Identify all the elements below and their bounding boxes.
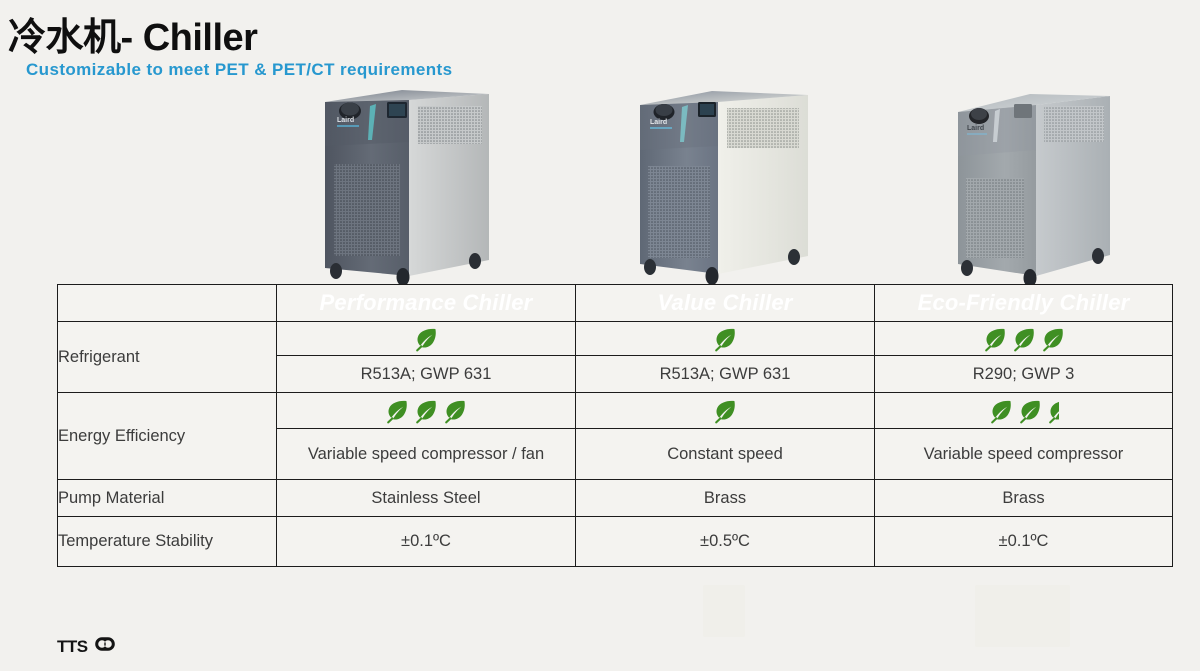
leaf-icon [712, 398, 738, 424]
tts-logo: TTS [57, 636, 120, 657]
header-blank [58, 285, 277, 322]
svg-text:Laird: Laird [967, 125, 984, 132]
cell-pump-eco: Brass [875, 480, 1173, 517]
leaf-rating [875, 322, 1172, 355]
header-value-chiller: Value Chiller [576, 285, 875, 322]
cell-pump-value: Brass [576, 480, 875, 517]
watermark-blob [975, 585, 1070, 647]
leaf-rating [576, 322, 874, 355]
leaf-rating [576, 393, 874, 428]
cell-energy-performance: Variable speed compressor / fan [277, 429, 576, 480]
leaf-icon [988, 398, 1014, 424]
rating-energy-eco [875, 393, 1173, 429]
leaf-icon [982, 326, 1008, 352]
table-row-refrigerant-leaves: Refrigerant [58, 322, 1173, 356]
cell-refrigerant-eco: R290; GWP 3 [875, 356, 1173, 393]
table-header-row: Performance Chiller Value Chiller Eco-Fr… [58, 285, 1173, 322]
cell-energy-value: Constant speed [576, 429, 875, 480]
rating-energy-performance [277, 393, 576, 429]
tts-logo-text: TTS [57, 637, 88, 657]
rating-refrigerant-performance [277, 322, 576, 356]
leaf-icon [1040, 326, 1066, 352]
header-eco-friendly-chiller: Eco-Friendly Chiller [875, 285, 1173, 322]
row-label-pump-material: Pump Material [58, 480, 277, 517]
leaf-icon [712, 326, 738, 352]
page-subtitle: Customizable to meet PET & PET/CT requir… [26, 60, 452, 80]
cell-temp-value: ±0.5ºC [576, 517, 875, 567]
cell-pump-performance: Stainless Steel [277, 480, 576, 517]
leaf-icon-partial [1046, 398, 1059, 424]
chiller-comparison-table: Performance Chiller Value Chiller Eco-Fr… [57, 284, 1173, 567]
watermark-blob [703, 585, 745, 637]
value-chiller-photo: Laird [612, 80, 822, 288]
svg-text:Laird: Laird [337, 117, 354, 124]
cell-refrigerant-value: R513A; GWP 631 [576, 356, 875, 393]
cell-refrigerant-performance: R513A; GWP 631 [277, 356, 576, 393]
leaf-rating [277, 393, 575, 428]
leaf-icon [413, 326, 439, 352]
performance-chiller-photo: Laird [292, 80, 502, 288]
leaf-icon [1011, 326, 1037, 352]
svg-text:Laird: Laird [650, 119, 667, 126]
row-label-refrigerant: Refrigerant [58, 322, 277, 393]
leaf-icon [413, 398, 439, 424]
cell-energy-eco: Variable speed compressor [875, 429, 1173, 480]
table-row-pump-material: Pump Material Stainless Steel Brass Bras… [58, 480, 1173, 517]
page-title: 冷水机- Chiller [8, 6, 257, 61]
rating-energy-value [576, 393, 875, 429]
leaf-icon [442, 398, 468, 424]
rating-refrigerant-eco [875, 322, 1173, 356]
leaf-rating [277, 322, 575, 355]
cell-temp-performance: ±0.1ºC [277, 517, 576, 567]
row-label-energy-efficiency: Energy Efficiency [58, 393, 277, 480]
header-performance-chiller: Performance Chiller [277, 285, 576, 322]
table-row-energy-efficiency-leaves: Energy Efficiency [58, 393, 1173, 429]
leaf-rating [875, 393, 1172, 428]
leaf-icon [384, 398, 410, 424]
row-label-temperature-stability: Temperature Stability [58, 517, 277, 567]
linked-rings-icon [94, 636, 120, 657]
rating-refrigerant-value [576, 322, 875, 356]
table-row-temperature-stability: Temperature Stability ±0.1ºC ±0.5ºC ±0.1… [58, 517, 1173, 567]
leaf-icon [1017, 398, 1043, 424]
eco-friendly-chiller-photo: Laird [932, 80, 1142, 288]
cell-temp-eco: ±0.1ºC [875, 517, 1173, 567]
